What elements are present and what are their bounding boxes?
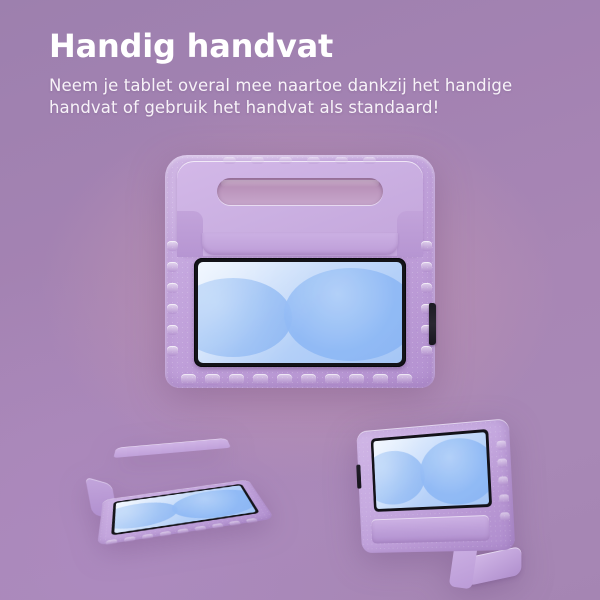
bumper-nub [106, 539, 117, 546]
power-button [356, 465, 361, 489]
bumper-nub [373, 374, 388, 385]
bumper-nub [229, 374, 244, 385]
bumper-nub [223, 157, 236, 164]
tablet-screen [198, 262, 402, 363]
bumper-nub [363, 157, 376, 164]
handle-lip [202, 233, 398, 255]
product-image-front-upright [165, 155, 435, 388]
bumper-nub [212, 523, 224, 529]
tablet-screen [373, 432, 489, 509]
case-foam-body [97, 480, 274, 546]
tablet-screen-bezel [194, 258, 406, 367]
screen-glare [198, 262, 402, 363]
bumper-nub [251, 157, 264, 164]
handle-notch-right [397, 211, 423, 257]
bumper-nub [397, 374, 412, 385]
bumper-nub [181, 374, 196, 385]
bumper-nub [205, 374, 220, 385]
folded-handle [113, 438, 231, 458]
bumper-nub [499, 494, 509, 503]
product-image-stand-mode [340, 412, 525, 592]
page-title: Handig handvat [49, 29, 569, 64]
bumper-nub [160, 531, 172, 537]
copy-block: Handig handvat Neem je tablet overal mee… [49, 29, 569, 120]
promo-banner: Handig handvat Neem je tablet overal mee… [0, 0, 600, 600]
bumper-nub [325, 374, 340, 385]
bumper-nub [245, 518, 258, 524]
bumper-nub [496, 440, 506, 450]
carry-handle-slot [217, 178, 383, 205]
bumper-nub [253, 374, 268, 385]
tablet-screen-bezel [371, 429, 492, 512]
bumper-nub [301, 374, 316, 385]
bumper-nubs-bottom [181, 374, 419, 386]
bumper-nub [124, 536, 135, 543]
bumper-nub [497, 458, 507, 468]
bumper-nub [335, 157, 348, 164]
power-button [429, 303, 436, 345]
handle-grip-bar [371, 515, 490, 544]
bumper-nub [229, 520, 242, 526]
bumper-nub [194, 526, 206, 532]
product-image-flat-tilted [84, 422, 283, 548]
bumper-nub [177, 528, 189, 534]
bumper-nub [277, 374, 292, 385]
bumper-nub [500, 512, 510, 521]
case-foam-body [356, 418, 515, 553]
screen-glare [373, 432, 489, 509]
bumper-nub [498, 476, 508, 485]
page-subtitle: Neem je tablet overal mee naartoe dankzi… [49, 75, 569, 121]
bumper-nub [307, 157, 320, 164]
bumper-nub [349, 374, 364, 385]
bumper-nub [279, 157, 292, 164]
bumper-nubs-right [495, 440, 510, 528]
bumper-nub [142, 533, 153, 540]
handle-notch-left [177, 211, 203, 257]
